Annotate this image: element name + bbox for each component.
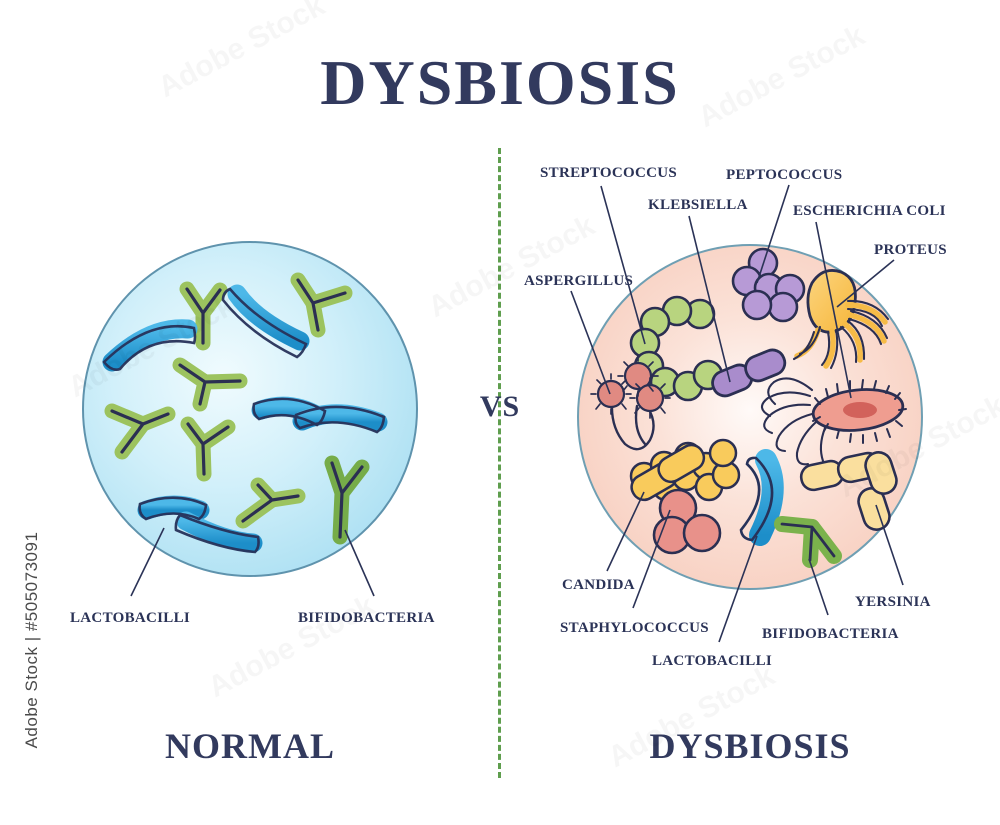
label-candida: CANDIDA [562,577,635,594]
caption-normal: NORMAL [90,725,410,767]
label-bifidobacteria-normal: BIFIDOBACTERIA [298,610,435,627]
label-lactobacilli-normal: LACTOBACILLI [70,610,190,627]
label-escherichia-coli: ESCHERICHIA COLI [793,203,946,220]
label-yersinia: YERSINIA [855,594,931,611]
label-aspergillus: ASPERGILLUS [524,273,633,290]
normal-microbiome-circle [83,242,417,596]
caption-dysbiosis: DYSBIOSIS [590,725,910,767]
illustration-svg [0,0,1000,825]
label-proteus: PROTEUS [874,242,947,259]
label-peptococcus: PEPTOCOCCUS [726,167,842,184]
label-staphylococcus: STAPHYLOCOCCUS [560,620,709,637]
label-bifidobacteria-dysbiosis: BIFIDOBACTERIA [762,626,899,643]
diagram-canvas: DYSBIOSIS VS [0,0,1000,825]
watermark-text: Adobe Stock | #505073091 [22,510,42,770]
label-lactobacilli-dysbiosis: LACTOBACILLI [652,653,772,670]
label-klebsiella: KLEBSIELLA [648,197,748,214]
dysbiosis-microbiome-circle [571,185,922,642]
label-streptococcus: STREPTOCOCCUS [540,165,677,182]
